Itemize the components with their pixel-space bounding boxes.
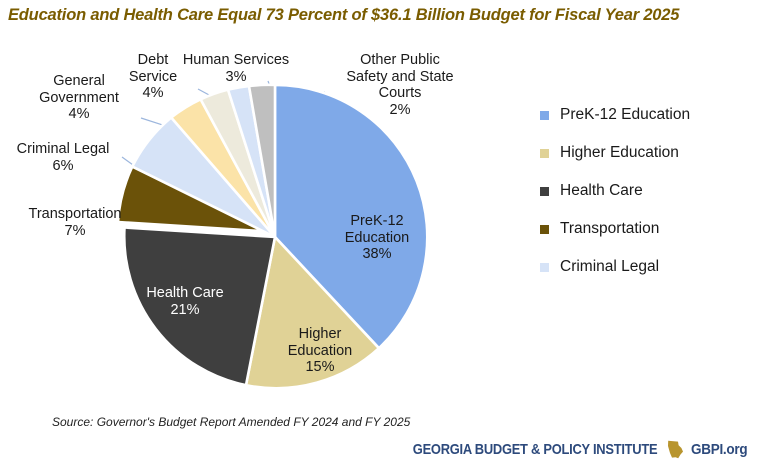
slice-label-health-pct: 21% (170, 302, 199, 318)
slice-label-prek12-line1: PreK-12 (350, 213, 403, 229)
legend-swatch-icon-prek12-education (540, 111, 549, 120)
page-title: Education and Health Care Equal 73 Perce… (8, 6, 760, 25)
callout-other-public-safety-line2: Safety and State (346, 69, 453, 85)
legend-label-transportation: Transportation (560, 220, 659, 238)
slice-label-higher-line2: Education (288, 343, 353, 359)
callout-general-government-pct: 4% (16, 106, 142, 123)
brand-url: GBPI.org (691, 441, 747, 458)
legend-item-higher-education[interactable]: Higher Education (540, 134, 760, 172)
callout-transportation: Transportation 7% (10, 206, 140, 239)
legend-swatch-icon-transportation (540, 225, 549, 234)
legend-swatch-icon-criminal-legal (540, 263, 549, 272)
legend-swatch-icon-health-care (540, 187, 549, 196)
legend-label-criminal-legal: Criminal Legal (560, 258, 659, 276)
callout-debt-service-pct: 4% (108, 85, 198, 102)
legend-label-prek12-education: PreK-12 Education (560, 106, 690, 124)
callout-criminal-legal-line1: Criminal Legal (17, 141, 110, 157)
legend: PreK-12 Education Higher Education Healt… (540, 96, 760, 286)
legend-item-health-care[interactable]: Health Care (540, 172, 760, 210)
callout-general-government-line2: Government (39, 90, 119, 106)
callout-debt-service-line1: Debt (138, 52, 169, 68)
brand-name: GEORGIA BUDGET & POLICY INSTITUTE (413, 441, 657, 458)
slice-label-prek12-education: PreK-12 Education 38% (322, 213, 432, 263)
callout-other-public-safety-pct: 2% (330, 102, 470, 119)
legend-swatch-icon-higher-education (540, 149, 549, 158)
callout-other-public-safety-line3: Courts (379, 85, 422, 101)
callout-other-public-safety: Other Public Safety and State Courts 2% (330, 52, 470, 118)
callout-criminal-legal: Criminal Legal 6% (2, 141, 124, 174)
callout-criminal-legal-pct: 6% (2, 158, 124, 175)
legend-item-criminal-legal[interactable]: Criminal Legal (540, 248, 760, 286)
georgia-state-shape-icon (667, 440, 684, 459)
slice-label-higher-line1: Higher (299, 326, 342, 342)
slice-label-prek12-pct: 38% (362, 246, 391, 262)
slice-label-prek12-line2: Education (345, 230, 410, 246)
callout-human-services-pct: 3% (166, 69, 306, 86)
callout-human-services: Human Services 3% (166, 52, 306, 85)
slice-label-health-care: Health Care 21% (130, 285, 240, 318)
chart-page: Education and Health Care Equal 73 Perce… (0, 0, 768, 469)
callout-general-government-line1: General (53, 73, 105, 89)
slice-label-higher-pct: 15% (305, 359, 334, 375)
callout-human-services-line1: Human Services (183, 52, 289, 68)
brand-lockup: GEORGIA BUDGET & POLICY INSTITUTE GBPI.o… (373, 440, 754, 459)
callout-transportation-pct: 7% (10, 223, 140, 240)
callout-transportation-line1: Transportation (29, 206, 122, 222)
legend-label-health-care: Health Care (560, 182, 643, 200)
source-note: Source: Governor's Budget Report Amended… (52, 415, 410, 429)
legend-item-prek12-education[interactable]: PreK-12 Education (540, 96, 760, 134)
slice-label-higher-education: Higher Education 15% (265, 326, 375, 376)
legend-item-transportation[interactable]: Transportation (540, 210, 760, 248)
callout-other-public-safety-line1: Other Public (360, 52, 440, 68)
legend-label-higher-education: Higher Education (560, 144, 679, 162)
slice-label-health-line1: Health Care (146, 285, 223, 301)
